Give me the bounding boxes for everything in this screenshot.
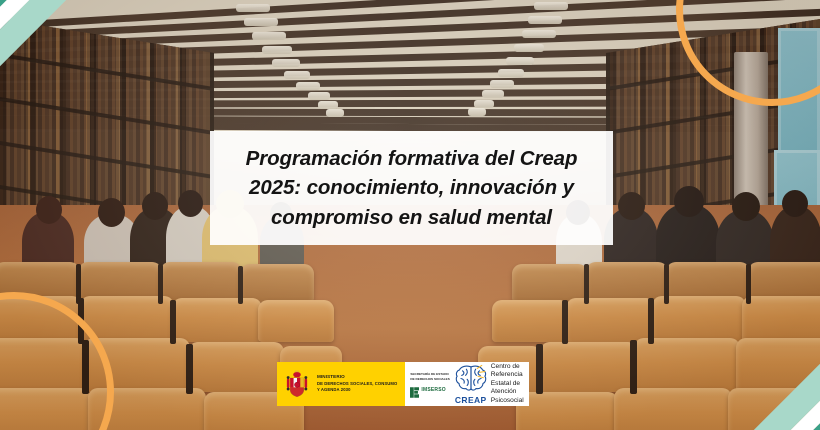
imserso-creap-logos: SECRETARÍA DE ESTADO DE DERECHOS SOCIALE… bbox=[405, 362, 528, 406]
secretaria-text: SECRETARÍA DE ESTADO DE DERECHOS SOCIALE… bbox=[410, 372, 449, 380]
title-card: Programación formativa del Creap 2025: c… bbox=[210, 131, 613, 245]
secretaria-line-2: DE DERECHOS SOCIALES bbox=[410, 377, 449, 381]
brain-icon bbox=[454, 363, 488, 395]
creap-description: Centro de Referencia Estatal de Atención… bbox=[491, 363, 524, 405]
title-line-2: 2025: conocimiento, innovación y bbox=[249, 176, 574, 199]
creap-mark: CREAP bbox=[454, 363, 488, 405]
creap-desc-2: Referencia bbox=[491, 371, 524, 379]
event-banner: Programación formativa del Creap 2025: c… bbox=[0, 0, 820, 430]
ministerio-text: MINISTERIO DE DERECHOS SOCIALES, CONSUMO… bbox=[317, 374, 397, 393]
page-title: Programación formativa del Creap 2025: c… bbox=[246, 144, 578, 231]
ministerio-line-1: MINISTERIO bbox=[317, 374, 397, 381]
title-line-1: Programación formativa del Creap bbox=[246, 147, 578, 170]
imserso-logo: IMSERSO bbox=[410, 385, 449, 396]
imserso-mark-icon bbox=[410, 385, 419, 396]
creap-desc-4: Atención bbox=[491, 388, 524, 396]
creap-desc-5: Psicosocial bbox=[491, 397, 524, 405]
secretaria-imserso-block: SECRETARÍA DE ESTADO DE DERECHOS SOCIALE… bbox=[410, 372, 449, 395]
secretaria-line-1: SECRETARÍA DE ESTADO bbox=[410, 372, 449, 376]
imserso-label: IMSERSO bbox=[421, 387, 445, 393]
ministerio-logo: MINISTERIO DE DERECHOS SOCIALES, CONSUMO… bbox=[277, 362, 405, 406]
logo-bar: MINISTERIO DE DERECHOS SOCIALES, CONSUMO… bbox=[277, 362, 529, 406]
creap-desc-1: Centro de bbox=[491, 363, 524, 371]
title-line-3: compromiso en salud mental bbox=[271, 206, 552, 229]
teal-door-upper bbox=[778, 28, 820, 156]
creap-logo: CREAP Centro de Referencia Estatal de At… bbox=[454, 363, 524, 405]
escudo-de-espana-icon bbox=[282, 369, 312, 399]
ministerio-line-3: Y AGENDA 2030 bbox=[317, 387, 397, 393]
creap-desc-3: Estatal de bbox=[491, 380, 524, 388]
creap-wordmark: CREAP bbox=[455, 395, 487, 405]
